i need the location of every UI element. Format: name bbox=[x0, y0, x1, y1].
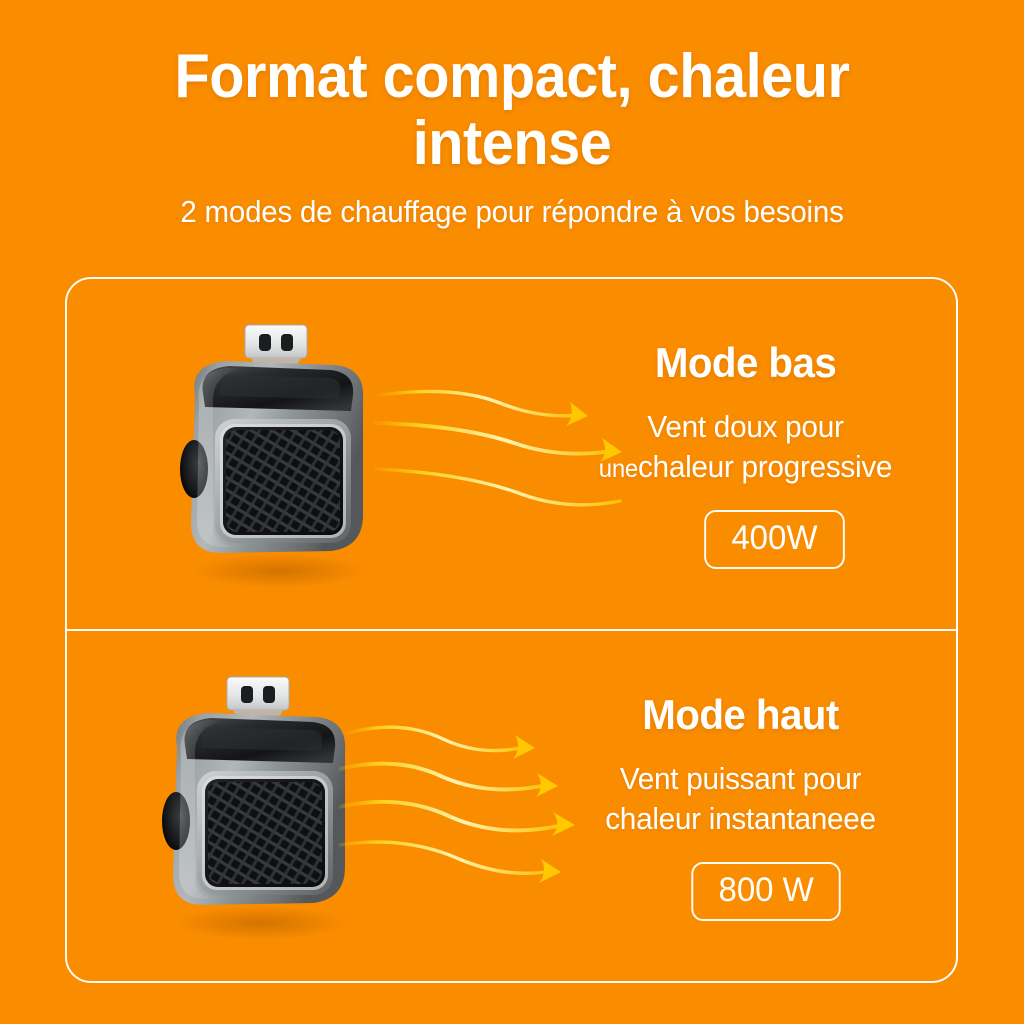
power-badge-low[interactable]: 400W bbox=[704, 510, 844, 569]
airflow-arrowheads bbox=[513, 735, 575, 883]
header: Format compact, chaleur intense 2 modes … bbox=[0, 44, 1024, 230]
mode-desc-low-prefix: une bbox=[599, 455, 638, 483]
page-title: Format compact, chaleur intense bbox=[36, 44, 988, 178]
heater-image-low bbox=[159, 319, 389, 589]
mode-desc-low-line-2: chaleur progressive bbox=[638, 449, 892, 484]
space-heater-icon bbox=[159, 319, 389, 589]
device-area-high bbox=[67, 631, 567, 981]
mode-text-high: Mode haut Vent puissant pour chaleur ins… bbox=[567, 691, 956, 921]
power-badge-high[interactable]: 800 W bbox=[692, 862, 842, 921]
grille-mesh bbox=[208, 782, 322, 884]
mode-desc-low-line-1: Vent doux pour bbox=[647, 409, 843, 444]
page-subtitle: 2 modes de chauffage pour répondre à vos… bbox=[26, 194, 999, 230]
grille-mesh bbox=[226, 430, 340, 532]
mode-title-low: Mode bas bbox=[584, 339, 908, 387]
mode-description-low: Vent doux pour unechaleur progressive bbox=[584, 407, 908, 486]
device-area-low bbox=[67, 279, 567, 629]
mode-row-high: Mode haut Vent puissant pour chaleur ins… bbox=[67, 631, 956, 981]
space-heater-icon bbox=[141, 671, 371, 941]
mode-text-low: Mode bas Vent doux pour unechaleur progr… bbox=[567, 339, 956, 569]
mode-title-high: Mode haut bbox=[574, 691, 907, 739]
heater-image-high bbox=[141, 671, 371, 941]
modes-card: Mode bas Vent doux pour unechaleur progr… bbox=[65, 277, 958, 983]
device-shadow bbox=[175, 906, 347, 940]
device-shadow bbox=[193, 554, 365, 588]
mode-description-high: Vent puissant pour chaleur instantaneee bbox=[574, 759, 907, 838]
page-title-line-1: Format compact, chaleur bbox=[174, 42, 849, 111]
badge-row-low: 400W bbox=[577, 510, 914, 569]
badge-row-high: 800 W bbox=[567, 862, 914, 921]
page-title-line-2: intense bbox=[413, 109, 612, 178]
mode-desc-high-line-1: Vent puissant pour bbox=[620, 761, 861, 796]
mode-desc-high-line-2: chaleur instantaneee bbox=[605, 801, 876, 836]
mode-row-low: Mode bas Vent doux pour unechaleur progr… bbox=[67, 279, 956, 629]
